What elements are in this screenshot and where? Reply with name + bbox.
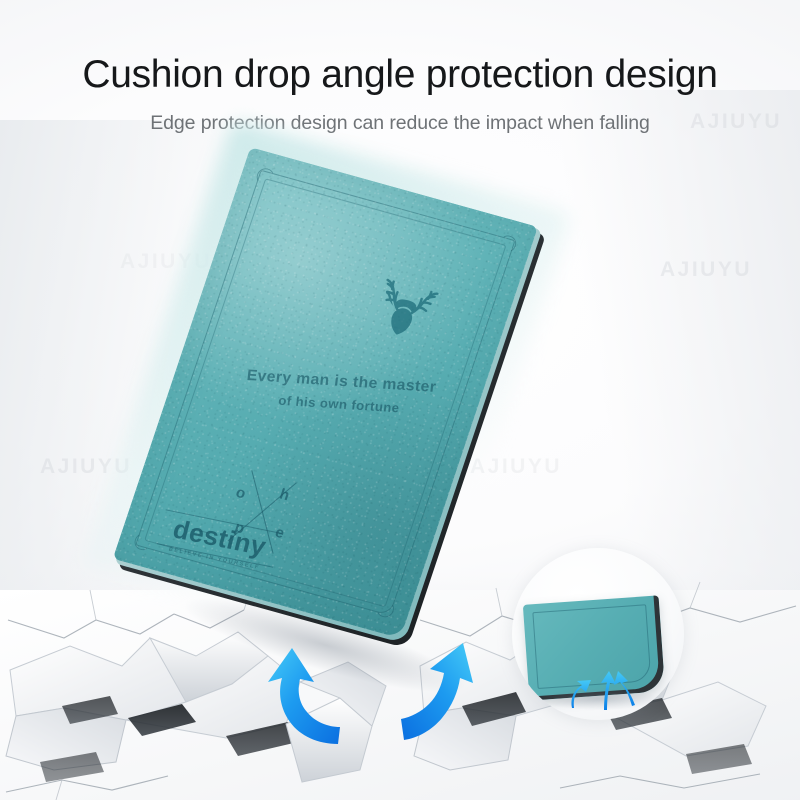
hope-letter-h: h bbox=[277, 486, 291, 505]
corner-closeup-magnifier bbox=[512, 548, 684, 720]
page-subtitle: Edge protection design can reduce the im… bbox=[0, 110, 800, 136]
watermark-brand: AJIUYU bbox=[660, 258, 752, 282]
page-title: Cushion drop angle protection design bbox=[0, 52, 800, 98]
product-marketing-image: AJIUYU AJIUYU AJIUYU AJIUYU AJIUYU Cushi… bbox=[0, 0, 800, 800]
inset-arrows bbox=[512, 548, 684, 720]
hope-letter-o: o bbox=[234, 484, 248, 503]
